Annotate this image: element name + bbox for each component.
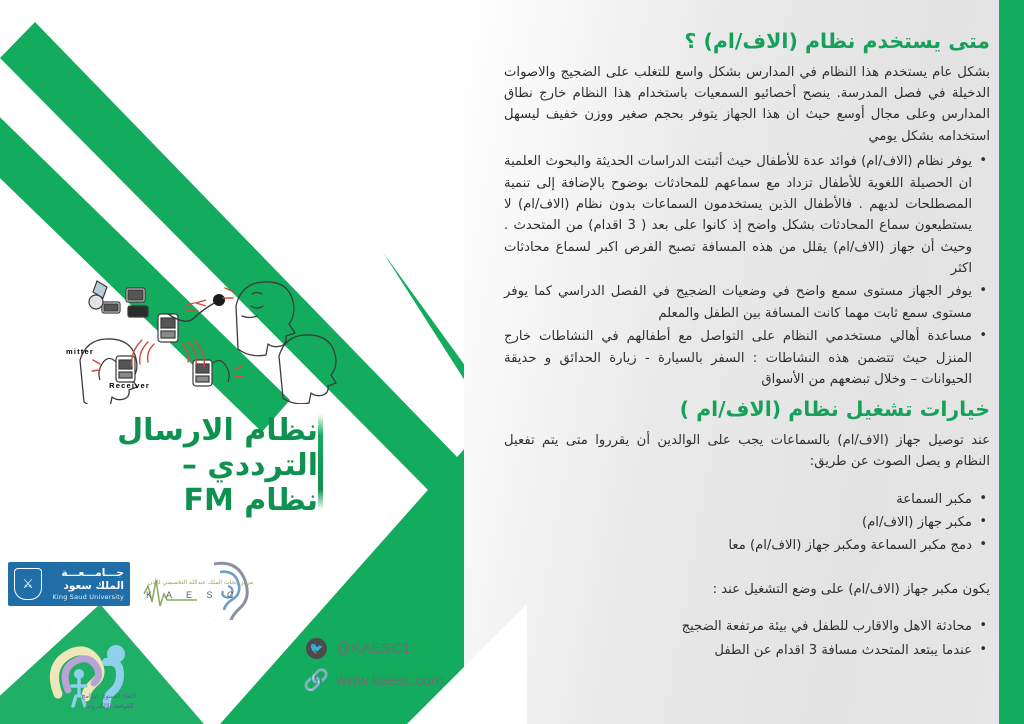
diagram-receiver-label: Receiver: [109, 381, 150, 390]
fm-system-diagram: Transmitter Receiver: [66, 244, 356, 404]
third-logo-caption-line1: اللقاء السنوي لبرامج: [68, 692, 150, 702]
list-item: مكبر جهاز (الاف/ام): [504, 512, 974, 533]
right-edge-green-bar: [999, 0, 1024, 724]
kaesc-logo: مركز أبحاث الملك عبدالله التخصصي للأذن K…: [140, 556, 260, 620]
section2-paragraph: عند توصيل جهاز (الاف/ام) بالسماعات يجب ع…: [504, 430, 990, 473]
king-saud-university-logo: جـــامـــعـــة الملك سعود King Saud Univ…: [8, 562, 130, 606]
website-url[interactable]: www.kaesc.com: [336, 672, 444, 689]
social-links: 🐦 @KAESC1 🔗 www.kaesc.com: [306, 638, 506, 702]
link-chain-icon: 🔗: [306, 670, 327, 691]
list-item: مساعدة أهالي مستخدمي النظام على التواصل …: [504, 326, 974, 390]
logo-row: جـــامـــعـــة الملك سعود King Saud Univ…: [8, 562, 268, 622]
twitter-row[interactable]: 🐦 @KAESC1: [306, 638, 506, 659]
section1-paragraph: بشكل عام يستخدم هذا النظام في المدارس بش…: [504, 62, 990, 148]
third-logo-caption: اللقاء السنوي لبرامج القوقعة الإلكترونية: [68, 692, 150, 712]
list-item: محادثة الاهل والاقارب للطفل في بيئة مرتف…: [504, 616, 974, 637]
third-logo-caption-line2: القوقعة الإلكترونية: [68, 702, 150, 712]
list-item: عندما يبتعد المتحدث مسافة 3 اقدام عن الط…: [504, 640, 974, 661]
cochlear-program-meeting-logo: اللقاء السنوي لبرامج القوقعة الإلكترونية: [32, 636, 148, 722]
list-item: يوفر نظام (الاف/ام) فوائد عدة للأطفال حي…: [504, 151, 974, 279]
brochure-page: Transmitter Receiver نظام الارسال التردد…: [0, 0, 1024, 724]
page-title: نظام الارسال الترددي – نظام FM: [0, 414, 336, 518]
ksu-arabic-line1: جـــامـــعـــة: [52, 567, 124, 579]
list-item: مكبر السماعة: [504, 489, 974, 510]
list-item: يوفر الجهاز مستوى سمع واضح في وضعيات الض…: [504, 281, 974, 324]
ksu-english-name: King Saud University: [52, 593, 124, 601]
ear-icon: [140, 556, 260, 620]
article-content: متى يستخدم نظام (الاف/ام) ؟ بشكل عام يست…: [504, 28, 990, 667]
brochure-title-block: نظام الارسال الترددي – نظام FM: [0, 414, 336, 518]
kaesc-acronym: K A E S C: [146, 590, 240, 600]
list-item: دمج مكبر السماعة ومكبر جهاز (الاف/ام) مع…: [504, 535, 974, 556]
diagram-transmitter-label: Transmitter: [66, 347, 94, 356]
website-row[interactable]: 🔗 www.kaesc.com: [306, 670, 506, 691]
section-heading-operating-options: خيارات تشغيل نظام (الاف/ام ): [504, 396, 990, 423]
ksu-palm-swords-emblem-icon: ⚔: [14, 568, 42, 600]
twitter-icon: 🐦: [306, 638, 327, 659]
section1-bullet-list: يوفر نظام (الاف/ام) فوائد عدة للأطفال حي…: [504, 151, 990, 390]
section2-paragraph2: يكون مكبر جهاز (الاف/ام) على وضع التشغيل…: [504, 579, 990, 600]
section-heading-when-to-use: متى يستخدم نظام (الاف/ام) ؟: [504, 28, 990, 55]
section2-bullet-list-2: محادثة الاهل والاقارب للطفل في بيئة مرتف…: [504, 616, 990, 661]
section2-bullet-list: مكبر السماعة مكبر جهاز (الاف/ام) دمج مكب…: [504, 489, 990, 557]
ksu-arabic-line2: الملك سعود: [52, 580, 124, 592]
kaesc-arabic-name: مركز أبحاث الملك عبدالله التخصصي للأذن: [148, 579, 253, 586]
twitter-handle[interactable]: @KAESC1: [336, 640, 410, 657]
